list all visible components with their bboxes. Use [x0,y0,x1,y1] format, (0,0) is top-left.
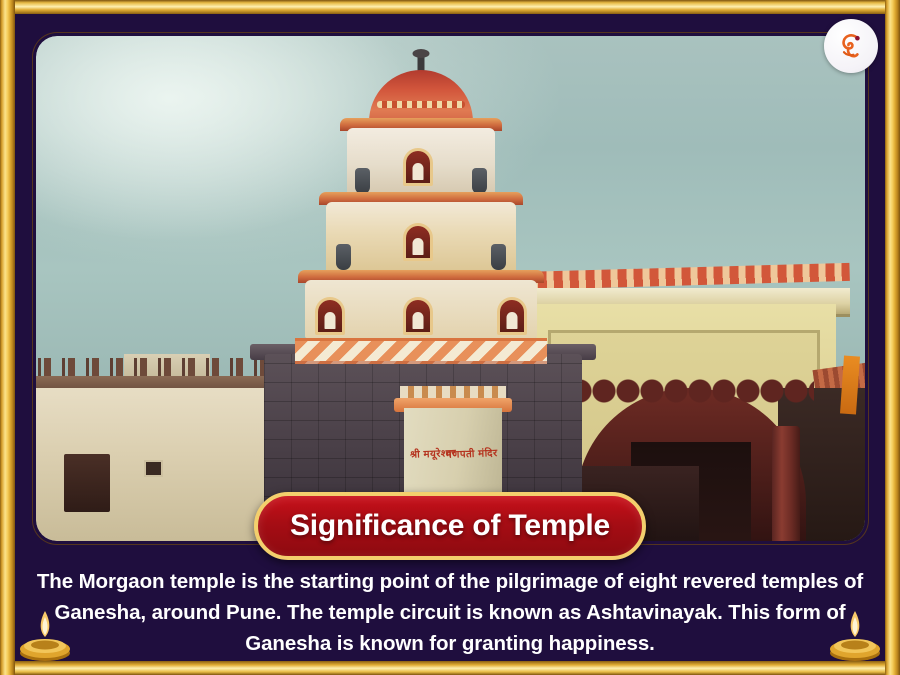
building-window [144,460,163,477]
tier-1-corbel-right [472,168,487,194]
oil-lamp-icon [818,603,892,665]
ganesha-logo-icon [833,28,869,64]
tower-tier-1 [347,128,495,194]
tower-zigzag-band [295,338,547,364]
temple-photo-frame: श्री मयूरेश्वर गणपती मंदिर [33,33,868,544]
tier-3-niche-right [497,297,527,335]
diya-lamp-right [818,603,892,665]
section-title-pill[interactable]: Significance of Temple [254,492,646,560]
tier-1-niche [403,148,433,186]
frame-band-top [0,0,900,14]
shikhara-tower [291,54,551,384]
facade-column-right [772,426,800,541]
tower-tier-3 [305,280,537,338]
temple-photo: श्री मयूरेश्वर गणपती मंदिर [36,36,865,541]
tier-1-corbel-left [355,168,370,194]
frame-band-left [0,0,15,675]
building-door [64,454,110,512]
section-title-text: Significance of Temple [290,509,610,543]
pillar-inscription-right: गणपती मंदिर [446,445,498,461]
tier-3-niche-center [403,297,433,335]
frame-band-right [885,0,900,675]
ganesha-logo-badge[interactable] [824,19,878,73]
tier-2-niche-center [403,223,433,261]
tier-2-corbel-right [491,244,506,270]
caption-text: The Morgaon temple is the starting point… [24,566,876,659]
ashtavinayak-info-card: श्री मयूरेश्वर गणपती मंदिर Significance … [0,0,900,675]
frame-band-bottom [0,661,900,675]
tier-2-corbel-left [336,244,351,270]
tier-3-niche-left [315,297,345,335]
oil-lamp-icon [8,603,82,665]
tower-tier-2 [326,202,516,272]
diya-lamp-left [8,603,82,665]
parapet-crenellation [36,358,298,378]
